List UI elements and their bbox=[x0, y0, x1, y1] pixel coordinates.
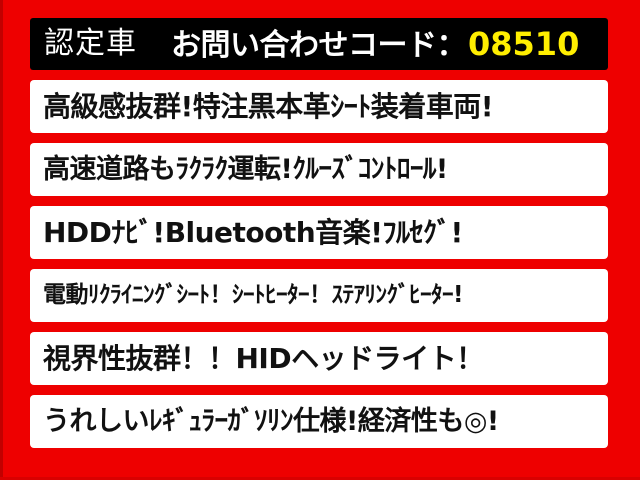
feature-row: HDDﾅﾋﾞ!Bluetooth音楽!ﾌﾙｾｸﾞ! bbox=[30, 206, 608, 259]
feature-row: 電動ﾘｸﾗｲﾆﾝｸﾞｼｰﾄ！ｼｰﾄﾋｰﾀｰ！ｽﾃｱﾘﾝｸﾞﾋｰﾀｰ! bbox=[30, 269, 608, 322]
feature-row: 視界性抜群！！HIDヘッドライト！ bbox=[30, 332, 608, 385]
certified-vehicle-badge: 認定車 bbox=[44, 29, 137, 59]
feature-row: 高速道路もﾗｸﾗｸ運転!ｸﾙｰｽﾞｺﾝﾄﾛｰﾙ! bbox=[30, 143, 608, 196]
feature-text: HDDﾅﾋﾞ!Bluetooth音楽!ﾌﾙｾｸﾞ! bbox=[43, 219, 463, 247]
feature-text: 電動ﾘｸﾗｲﾆﾝｸﾞｼｰﾄ！ｼｰﾄﾋｰﾀｰ！ｽﾃｱﾘﾝｸﾞﾋｰﾀｰ! bbox=[43, 284, 463, 307]
inquiry-code-group: お問い合わせコード： 08510 bbox=[171, 28, 579, 61]
feature-text: 高級感抜群!特注黒本革ｼｰﾄ装着車両! bbox=[43, 93, 493, 121]
vehicle-feature-banner: 認定車 お問い合わせコード： 08510 高級感抜群!特注黒本革ｼｰﾄ装着車両!… bbox=[0, 0, 640, 480]
feature-text: 高速道路もﾗｸﾗｸ運転!ｸﾙｰｽﾞｺﾝﾄﾛｰﾙ! bbox=[43, 156, 448, 183]
feature-text: 視界性抜群！！HIDヘッドライト！ bbox=[43, 345, 484, 373]
feature-row: 高級感抜群!特注黒本革ｼｰﾄ装着車両! bbox=[30, 80, 608, 133]
header-bar: 認定車 お問い合わせコード： 08510 bbox=[30, 18, 608, 70]
feature-list: 高級感抜群!特注黒本革ｼｰﾄ装着車両! 高速道路もﾗｸﾗｸ運転!ｸﾙｰｽﾞｺﾝﾄ… bbox=[30, 80, 608, 458]
feature-row: うれしいﾚｷﾞｭﾗｰｶﾞｿﾘﾝ仕様!経済性も◎! bbox=[30, 395, 608, 448]
inquiry-code-label: お問い合わせコード： bbox=[171, 31, 466, 61]
feature-text: うれしいﾚｷﾞｭﾗｰｶﾞｿﾘﾝ仕様!経済性も◎! bbox=[43, 408, 499, 435]
inquiry-code-value: 08510 bbox=[468, 28, 579, 60]
